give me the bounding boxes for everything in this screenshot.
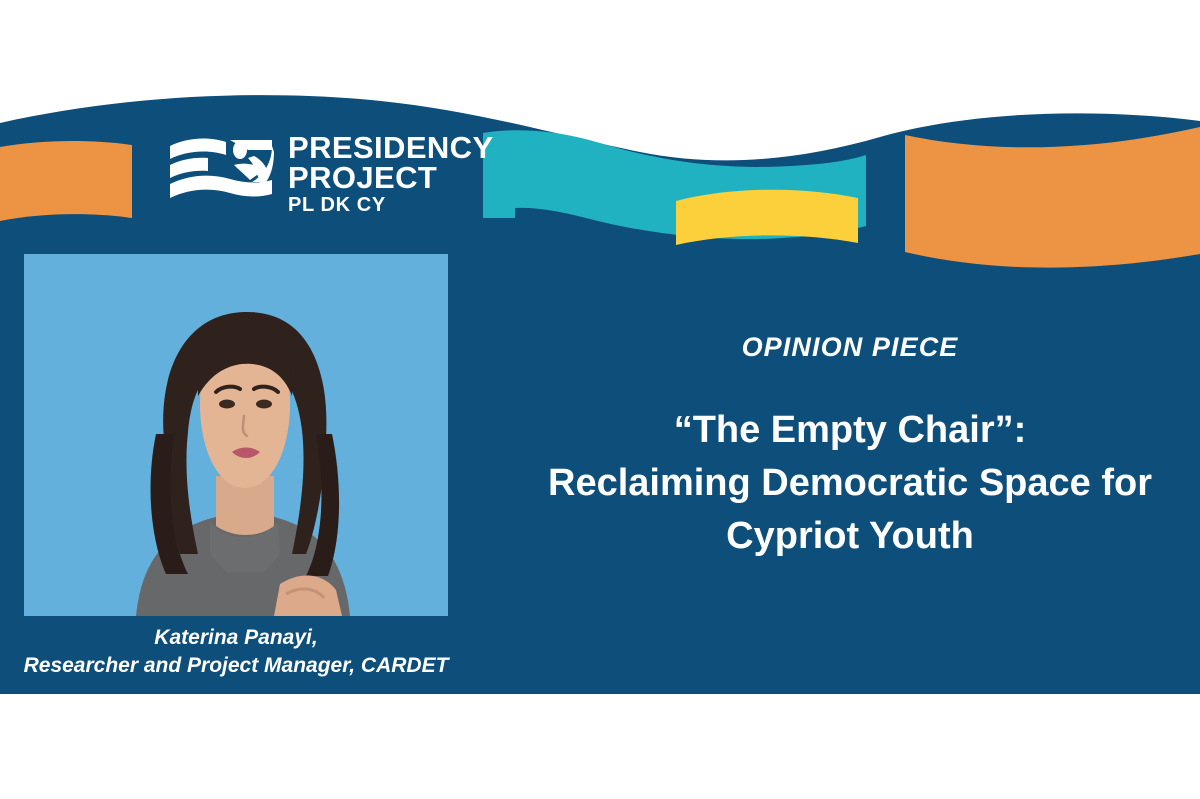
portrait-illustration [24,254,448,616]
speaker-role: Researcher and Project Manager, CARDET [0,652,472,680]
logo-line-3: PL DK CY [288,196,494,215]
footer-bar: Co-funded by the European Union The proj… [0,694,1200,799]
presidency-project-logo: PRESIDENCY PROJECT PL DK CY [168,132,494,216]
opinion-piece-banner: PRESIDENCY PROJECT PL DK CY [0,0,1200,799]
navy-banner-panel: PRESIDENCY PROJECT PL DK CY [0,0,1200,694]
page-title: “The Empty Chair”: Reclaiming Democratic… [505,404,1195,562]
orange-ribbon-right [905,127,1200,268]
speaker-name: Katerina Panayi, [0,624,472,652]
kicker-label: OPINION PIECE [520,332,1180,363]
speaker-portrait [24,254,448,616]
presidency-flag-icon [168,132,276,216]
logo-line-1: PRESIDENCY [288,133,494,163]
logo-line-2: PROJECT [288,163,494,193]
portrait-caption: Katerina Panayi, Researcher and Project … [0,624,472,679]
orange-ribbon-left [0,141,132,221]
title-line-2: Reclaiming Democratic Space for [505,457,1195,510]
title-line-3: Cypriot Youth [505,510,1195,563]
title-line-1: “The Empty Chair”: [505,404,1195,457]
